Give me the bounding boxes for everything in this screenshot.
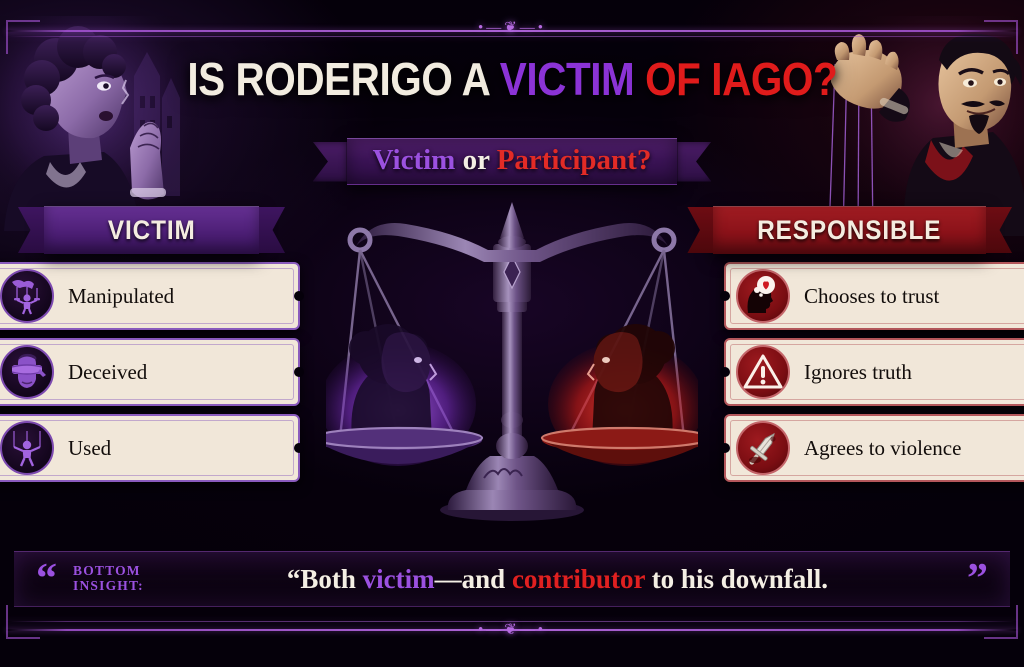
list-item-label: Used: [68, 436, 111, 461]
card-notch: [720, 291, 730, 301]
title-part-3: OF IAGO?: [645, 53, 837, 105]
quote-close-icon: ”: [967, 571, 988, 588]
responsible-banner-body: RESPONSIBLE: [713, 206, 986, 254]
victim-card-list: Manipulated Deceived: [0, 262, 300, 482]
subtitle-part-3: Participant?: [497, 144, 652, 176]
card-notch: [720, 443, 730, 453]
corner-ornament-bottom-right: [984, 605, 1018, 639]
title-part-1: IS RODERIGO A: [187, 53, 499, 105]
responsible-card-list: Chooses to trust Ignores truth: [724, 262, 1024, 482]
list-item-label: Ignores truth: [804, 360, 912, 385]
victim-banner-tail-right: [259, 207, 285, 253]
insight-label: BOTTOM INSIGHT:: [73, 564, 144, 593]
victim-banner: VICTIM: [18, 206, 285, 254]
card-notch: [294, 367, 304, 377]
infographic-canvas: •—❦—• •—❦—• IS RODERIGO A VICTIM OF IAGO…: [0, 0, 1024, 667]
list-item-label: Chooses to trust: [804, 284, 939, 309]
bottom-insight-bar: “ BOTTOM INSIGHT: “Both victim—and contr…: [14, 551, 1010, 607]
quote-part-1: “Both: [287, 564, 363, 594]
quote-part-5: to his downfall.: [645, 564, 828, 594]
quote-part-3: —and: [435, 564, 512, 594]
victim-banner-label: VICTIM: [108, 215, 196, 246]
subtitle-text: Victim or Participant?: [373, 144, 652, 177]
list-item[interactable]: Agrees to violence: [724, 414, 1024, 482]
quote-open-icon: “: [36, 571, 57, 588]
page-title: IS RODERIGO A VICTIM OF IAGO?: [187, 56, 837, 102]
responsible-banner-tail-right: [986, 207, 1012, 253]
subtitle-part-1: Victim: [373, 144, 456, 176]
iago-puppeteer-illustration: [813, 16, 1024, 236]
roderigo-praying-illustration: [0, 16, 199, 231]
title-part-2: VICTIM: [499, 53, 644, 105]
list-item-label: Manipulated: [68, 284, 174, 309]
subtitle-part-2: or: [455, 144, 496, 176]
dagger-icon: [736, 421, 790, 475]
ribbon-body: Victim or Participant?: [347, 138, 678, 185]
insight-quote: “Both victim—and contributor to his down…: [162, 564, 953, 595]
bottom-flourish-ornament: •—❦—•: [478, 623, 546, 638]
list-item[interactable]: Ignores truth: [724, 338, 1024, 406]
puppeteer-hand-icon: [0, 269, 54, 323]
quote-part-4: contributor: [512, 564, 645, 594]
list-item[interactable]: Manipulated: [0, 262, 300, 330]
ribbon-tail-left: [313, 142, 347, 182]
responsible-banner-label: RESPONSIBLE: [758, 215, 942, 246]
top-flourish-ornament: •—❦—•: [478, 21, 546, 36]
blindfold-icon: [0, 345, 54, 399]
marionette-icon: [0, 421, 54, 475]
card-notch: [294, 291, 304, 301]
list-item[interactable]: Chooses to trust: [724, 262, 1024, 330]
subtitle-ribbon-wrap: Victim or Participant?: [0, 138, 1024, 185]
warning-triangle-icon: [736, 345, 790, 399]
balance-scale: [326, 188, 698, 528]
list-item[interactable]: Used: [0, 414, 300, 482]
corner-ornament-top-left: [6, 20, 40, 54]
quote-part-2: victim: [363, 564, 435, 594]
victim-banner-tail-left: [18, 207, 44, 253]
card-notch: [720, 367, 730, 377]
head-heart-thought-icon: [736, 269, 790, 323]
list-item[interactable]: Deceived: [0, 338, 300, 406]
list-item-label: Agrees to violence: [804, 436, 961, 461]
ribbon-tail-right: [677, 142, 711, 182]
subtitle-ribbon: Victim or Participant?: [313, 138, 712, 185]
corner-ornament-top-right: [984, 20, 1018, 54]
title-row: IS RODERIGO A VICTIM OF IAGO?: [0, 56, 1024, 102]
responsible-banner: RESPONSIBLE: [687, 206, 1012, 254]
list-item-label: Deceived: [68, 360, 147, 385]
card-notch: [294, 443, 304, 453]
responsible-banner-tail-left: [687, 207, 713, 253]
victim-banner-body: VICTIM: [44, 206, 259, 254]
corner-ornament-bottom-left: [6, 605, 40, 639]
